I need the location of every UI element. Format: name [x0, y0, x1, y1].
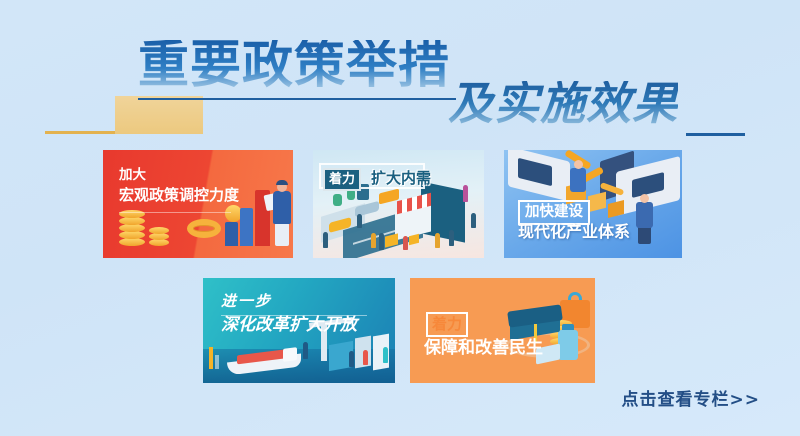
person-icon — [449, 230, 454, 246]
bar-chart-icon — [209, 347, 213, 369]
card-reform-opening-line1: 进一步 — [221, 292, 357, 311]
person-icon — [383, 347, 388, 363]
person-icon — [463, 185, 468, 202]
card-row-top: 加大 宏观政策调控力度 — [103, 150, 682, 258]
person-icon — [471, 213, 476, 228]
card-macro-policy-line2: 宏观政策调控力度 — [119, 186, 239, 205]
card-livelihood[interactable]: 着力 保障和改善民生 — [410, 278, 595, 383]
person-icon — [357, 214, 362, 228]
person-hair-icon — [276, 180, 288, 185]
person-icon — [323, 232, 328, 248]
card-expand-demand-line1: 着力 — [323, 168, 361, 191]
blue-rule-decoration — [686, 133, 745, 136]
donut-ring-icon — [187, 219, 221, 238]
title-underline-decoration — [138, 98, 456, 100]
gold-block-decoration — [115, 96, 203, 134]
worker-head-icon — [574, 160, 583, 169]
card-modern-industry-line2: 现代化产业体系 — [518, 224, 630, 240]
truck-icon — [379, 189, 399, 205]
ship-cabin-icon — [283, 347, 297, 362]
person-icon — [371, 233, 376, 248]
coin-icon — [119, 224, 145, 232]
medicine-bottle-icon — [558, 330, 578, 360]
person-icon — [435, 233, 440, 248]
person-body-icon — [273, 191, 291, 224]
bar-chart-icon — [240, 208, 253, 246]
bar-chart-icon — [225, 222, 238, 246]
coin-icon — [149, 227, 169, 234]
person-icon — [379, 233, 384, 250]
coin-icon — [119, 238, 145, 246]
crate-icon — [588, 192, 606, 212]
worker-head-icon — [640, 194, 649, 203]
card-macro-policy[interactable]: 加大 宏观政策调控力度 — [103, 150, 293, 258]
worker-body-icon — [570, 168, 586, 192]
person-icon — [349, 351, 354, 367]
person-icon — [303, 342, 308, 359]
crate-icon — [608, 200, 624, 218]
card-livelihood-line1: 着力 — [426, 312, 468, 337]
person-icon — [363, 350, 368, 365]
tree-icon — [333, 194, 342, 206]
card-row-bottom: 进一步 深化改革扩大开放 着力 保障和改善民生 — [203, 278, 595, 383]
card-expand-demand[interactable]: 着力 扩大内需 — [313, 150, 484, 258]
page-title-block: 重要政策举措 及实施效果 — [0, 34, 800, 128]
coin-icon — [119, 231, 145, 239]
worker-legs-icon — [638, 226, 651, 244]
card-livelihood-line2: 保障和改善民生 — [424, 340, 543, 357]
view-column-link[interactable]: 点击查看专栏>> — [622, 385, 761, 410]
page-title-main: 重要政策举措 — [138, 40, 450, 91]
card-modern-industry-line1: 加快建设 — [518, 200, 590, 225]
card-macro-policy-line1: 加大 — [119, 167, 239, 184]
coin-icon — [119, 217, 145, 225]
card-reform-opening-label: 进一步 深化改革扩大开放 — [221, 292, 357, 336]
card-reform-opening-line2: 深化改革扩大开放 — [221, 315, 357, 336]
worker-body-icon — [636, 202, 653, 228]
person-legs-icon — [275, 223, 289, 246]
card-macro-policy-label: 加大 宏观政策调控力度 — [119, 167, 239, 204]
card-expand-demand-line2: 扩大内需 — [369, 168, 433, 189]
coin-icon — [149, 239, 169, 246]
card-modern-industry[interactable]: 加快建设 现代化产业体系 — [504, 150, 682, 258]
gold-rule-decoration — [45, 131, 120, 134]
bar-chart-icon — [215, 355, 219, 369]
package-icon — [409, 234, 419, 245]
label-divider — [119, 212, 231, 213]
card-reform-opening[interactable]: 进一步 深化改革扩大开放 — [203, 278, 395, 383]
page-title-sub: 及实施效果 — [448, 81, 678, 126]
person-icon — [403, 236, 408, 250]
coin-icon — [149, 233, 169, 240]
